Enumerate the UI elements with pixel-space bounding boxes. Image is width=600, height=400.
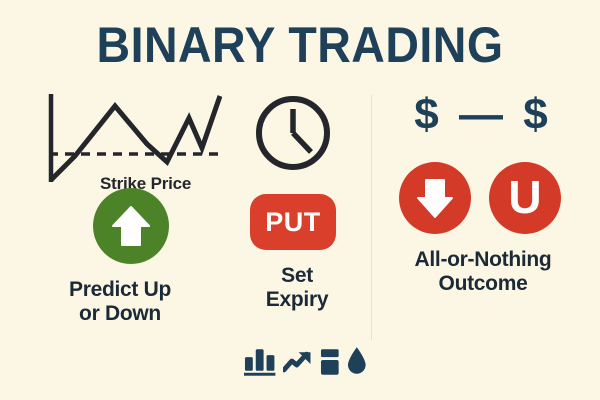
infographic-canvas: BINARY TRADING Strike Price Predict Up o… <box>0 0 600 400</box>
panel-expiry: PUT Set Expiry <box>230 88 365 338</box>
predict-caption: Predict Up or Down <box>20 278 220 326</box>
panel-outcome: $ — $ U All-or-Nothing Outcome <box>378 88 588 338</box>
water-droplet-icon <box>346 346 368 376</box>
chart-price-line <box>51 96 220 180</box>
outcome-caption-line2: Outcome <box>378 272 588 296</box>
arrow-up-icon <box>111 204 151 248</box>
outcome-caption: All-or-Nothing Outcome <box>378 248 588 296</box>
put-button-label: PUT <box>265 209 321 236</box>
expiry-caption-line1: Set <box>222 264 372 288</box>
panel-predict: Strike Price Predict Up or Down <box>20 88 220 338</box>
outcome-caption-line1: All-or-Nothing <box>378 248 588 272</box>
payout-expression: $ — $ <box>378 92 588 138</box>
outcome-win-badge[interactable]: U <box>489 162 561 234</box>
letter-u-glyph: U <box>508 174 541 220</box>
expiry-caption-line2: Expiry <box>222 288 372 312</box>
page-title: BINARY TRADING <box>21 18 579 72</box>
predict-caption-line2: or Down <box>20 302 220 326</box>
arrow-down-icon <box>416 177 454 219</box>
predict-up-badge[interactable] <box>93 188 169 264</box>
strike-price-chart: Strike Price <box>42 92 222 184</box>
expiry-caption: Set Expiry <box>222 264 372 312</box>
outcome-loss-badge[interactable] <box>399 162 471 234</box>
bar-chart-icon <box>243 346 276 376</box>
predict-caption-line1: Predict Up <box>20 278 220 302</box>
put-button[interactable]: PUT <box>250 194 336 250</box>
footer-icon-strip <box>243 342 368 376</box>
line-chart-svg <box>42 92 222 184</box>
trending-up-arrow-icon <box>283 350 312 376</box>
card-stack-icon <box>320 348 340 376</box>
clock-icon <box>254 94 332 172</box>
